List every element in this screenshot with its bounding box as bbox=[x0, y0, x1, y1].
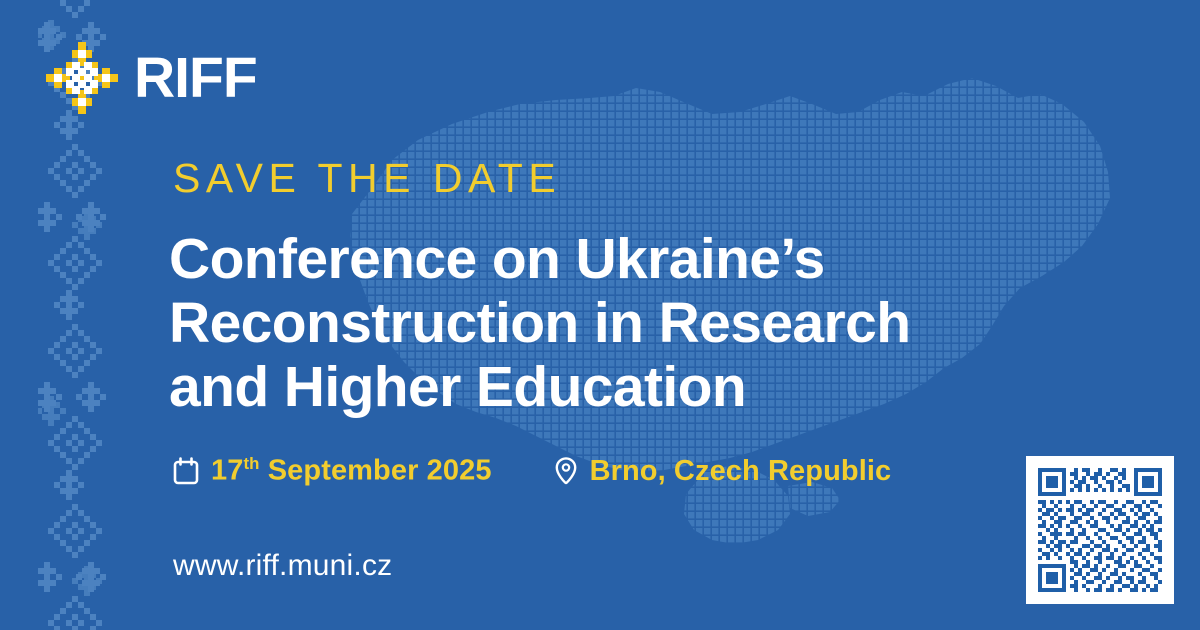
headline-line-1: Conference on Ukraine’s bbox=[169, 228, 910, 292]
location-pin-icon bbox=[554, 456, 578, 486]
headline-line-2: Reconstruction in Research bbox=[169, 292, 910, 356]
headline-line-3: and Higher Education bbox=[169, 356, 910, 420]
event-meta: 17th September 2025 Brno, Czech Republic bbox=[173, 456, 891, 486]
event-date-rest: September 2025 bbox=[260, 455, 492, 487]
riff-wordmark: RIFF bbox=[134, 50, 257, 107]
event-location-text: Brno, Czech Republic bbox=[590, 457, 892, 486]
website-url[interactable]: www.riff.muni.cz bbox=[173, 551, 392, 581]
page-title: Conference on Ukraine’s Reconstruction i… bbox=[169, 228, 910, 419]
save-the-date-poster: RIFF SAVE THE DATE Conference on Ukraine… bbox=[0, 0, 1200, 630]
calendar-icon bbox=[173, 457, 199, 485]
event-location: Brno, Czech Republic bbox=[554, 456, 892, 486]
event-date-day: 17 bbox=[211, 455, 243, 487]
qr-code[interactable] bbox=[1026, 456, 1174, 604]
save-the-date-eyebrow: SAVE THE DATE bbox=[173, 158, 561, 199]
event-date-text: 17th September 2025 bbox=[211, 456, 492, 486]
riff-logo[interactable]: RIFF bbox=[44, 40, 257, 116]
poster-content: SAVE THE DATE Conference on Ukraine’s Re… bbox=[173, 0, 1033, 630]
riff-diamond-ornament-icon bbox=[44, 40, 120, 116]
event-date: 17th September 2025 bbox=[173, 456, 492, 486]
event-date-ordinal: th bbox=[243, 454, 259, 473]
